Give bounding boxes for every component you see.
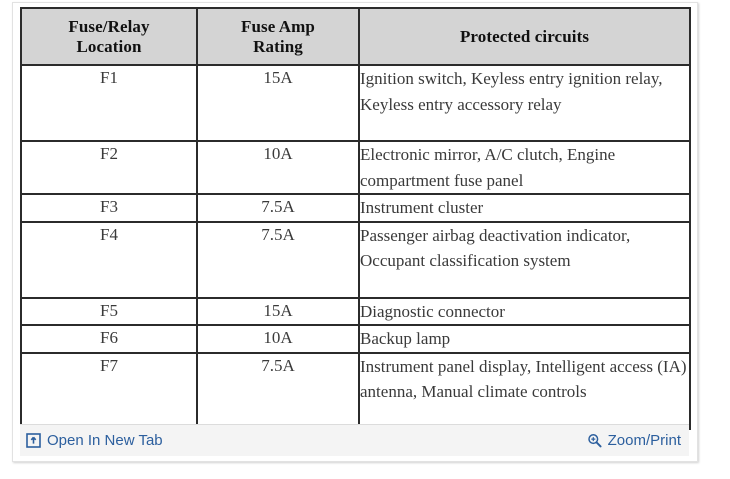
fuse-relay-table: Fuse/Relay Location Fuse Amp Rating Prot… <box>20 7 691 430</box>
table-row: F6 10A Backup lamp <box>21 325 690 353</box>
cell-circuits: Passenger airbag deactivation indicator,… <box>359 222 690 298</box>
table-header: Fuse/Relay Location Fuse Amp Rating Prot… <box>21 8 690 65</box>
cell-location: F1 <box>21 65 197 141</box>
cell-location: F3 <box>21 194 197 222</box>
table-row: F2 10A Electronic mirror, A/C clutch, En… <box>21 141 690 194</box>
table-row: F4 7.5A Passenger airbag deactivation in… <box>21 222 690 298</box>
table-row: F7 7.5A Instrument panel display, Intell… <box>21 353 690 429</box>
cell-location: F4 <box>21 222 197 298</box>
open-in-new-tab-button[interactable]: Open In New Tab <box>26 432 163 449</box>
open-in-new-tab-icon <box>26 433 41 448</box>
cell-circuits: Electronic mirror, A/C clutch, Engine co… <box>359 141 690 194</box>
zoom-print-label: Zoom/Print <box>608 432 681 449</box>
table-body: F1 15A Ignition switch, Keyless entry ig… <box>21 65 690 429</box>
cell-location: F2 <box>21 141 197 194</box>
column-header-fuse-amp-rating: Fuse Amp Rating <box>197 8 359 65</box>
cell-location: F6 <box>21 325 197 353</box>
column-header-line-1: Fuse Amp <box>198 17 358 37</box>
table-header-row: Fuse/Relay Location Fuse Amp Rating Prot… <box>21 8 690 65</box>
open-in-new-tab-label: Open In New Tab <box>47 432 163 449</box>
cell-rating: 7.5A <box>197 222 359 298</box>
cell-location: F7 <box>21 353 197 429</box>
viewer-toolbar: Open In New Tab Zoom/Print <box>20 424 689 456</box>
cell-circuits: Instrument cluster <box>359 194 690 222</box>
cell-rating: 7.5A <box>197 194 359 222</box>
table-row: F5 15A Diagnostic connector <box>21 298 690 326</box>
table-row: F3 7.5A Instrument cluster <box>21 194 690 222</box>
cell-rating: 10A <box>197 325 359 353</box>
fuse-table-image: Fuse/Relay Location Fuse Amp Rating Prot… <box>20 7 689 421</box>
cell-rating: 15A <box>197 65 359 141</box>
cell-circuits: Diagnostic connector <box>359 298 690 326</box>
column-header-fuse-relay-location: Fuse/Relay Location <box>21 8 197 65</box>
cell-circuits: Ignition switch, Keyless entry ignition … <box>359 65 690 141</box>
column-header-protected-circuits: Protected circuits <box>359 8 690 65</box>
cell-circuits: Instrument panel display, Intelligent ac… <box>359 353 690 429</box>
magnifier-plus-icon <box>587 433 602 448</box>
cell-location: F5 <box>21 298 197 326</box>
column-header-line-2: Rating <box>198 37 358 57</box>
column-header-line-1: Protected circuits <box>360 27 689 47</box>
cell-rating: 7.5A <box>197 353 359 429</box>
column-header-line-1: Fuse/Relay <box>22 17 196 37</box>
cell-rating: 15A <box>197 298 359 326</box>
cell-rating: 10A <box>197 141 359 194</box>
cell-circuits: Backup lamp <box>359 325 690 353</box>
table-row: F1 15A Ignition switch, Keyless entry ig… <box>21 65 690 141</box>
zoom-print-button[interactable]: Zoom/Print <box>587 432 681 449</box>
column-header-line-2: Location <box>22 37 196 57</box>
image-viewer-frame: Fuse/Relay Location Fuse Amp Rating Prot… <box>12 2 698 462</box>
